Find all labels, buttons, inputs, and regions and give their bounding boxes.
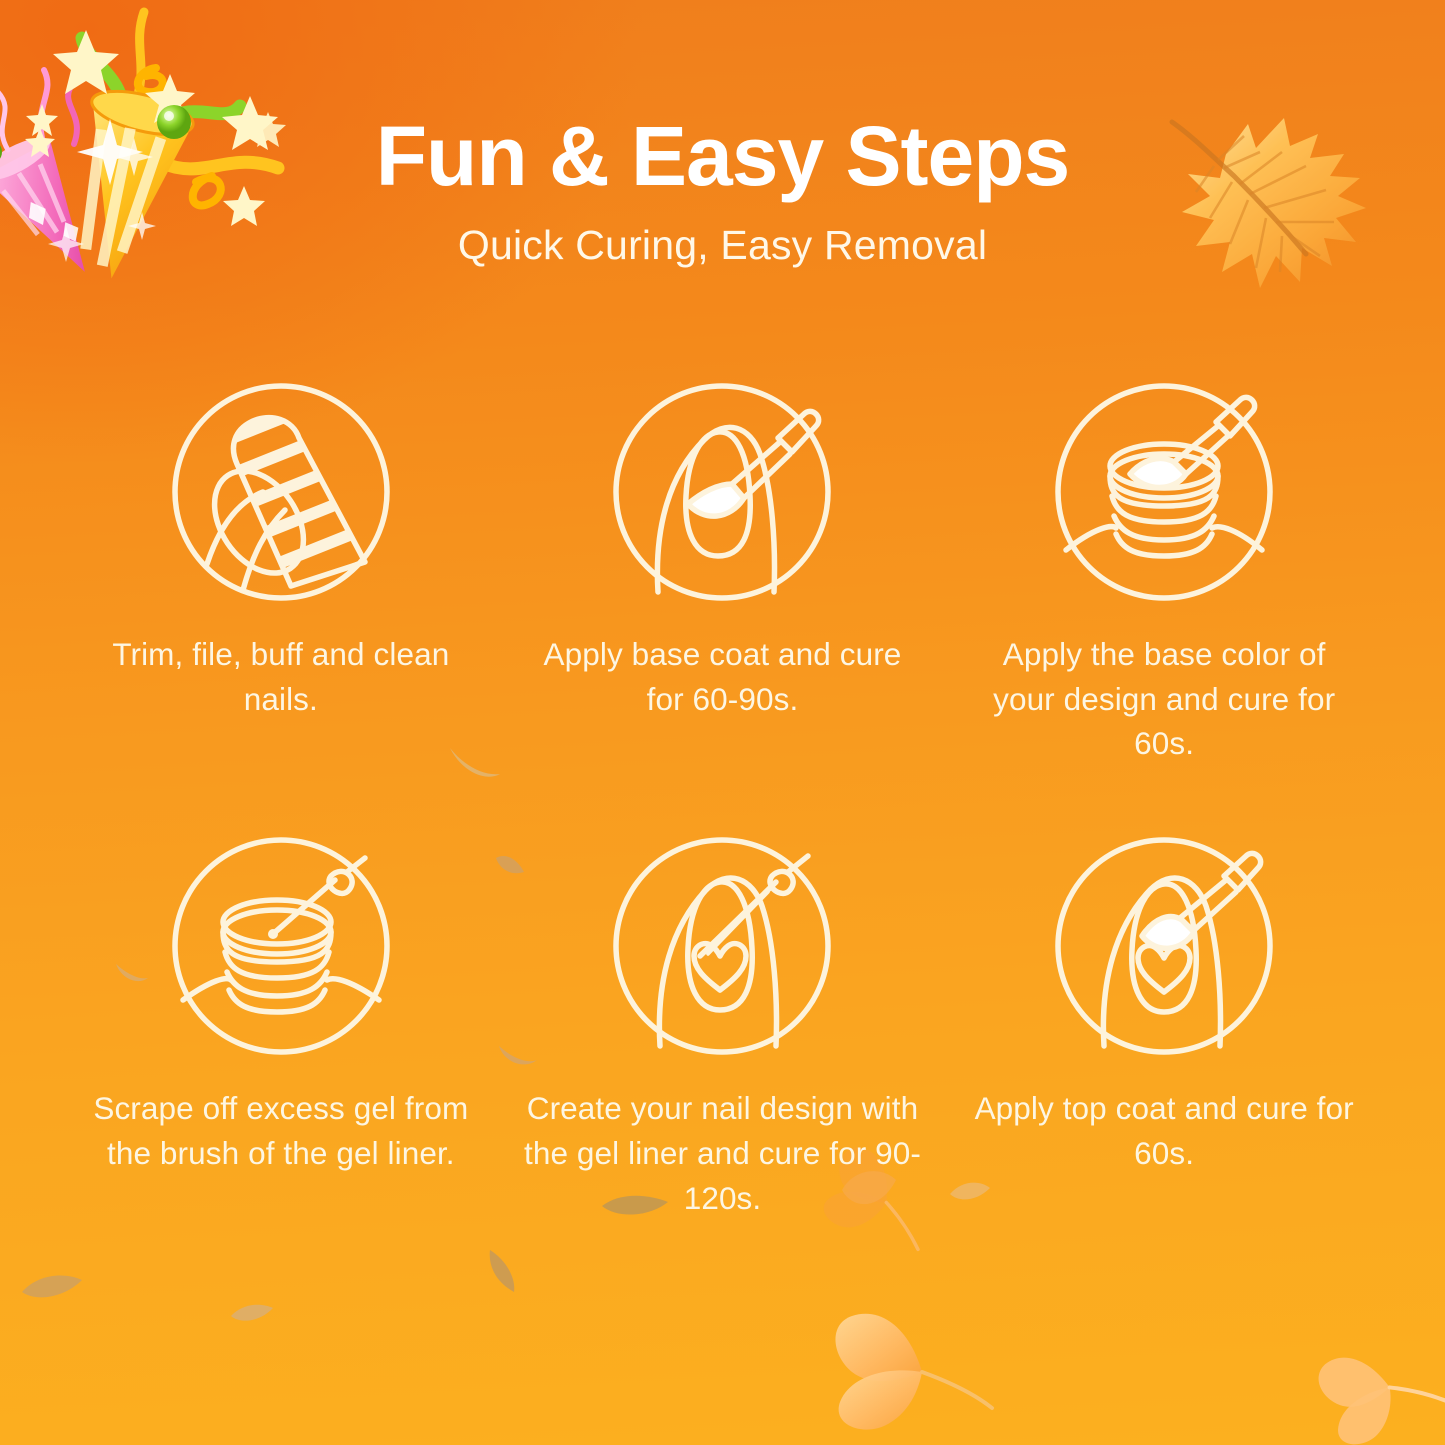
step-2: Apply base coat and cure for 60-90s.: [502, 378, 944, 766]
infographic-page: Fun & Easy Steps Quick Curing, Easy Remo…: [0, 0, 1445, 1445]
step-4: Scrape off excess gel from the brush of …: [60, 832, 502, 1220]
step-4-text: Scrape off excess gel from the brush of …: [76, 1086, 486, 1175]
nail-heart-liner-icon: [608, 832, 836, 1060]
steps-grid: Trim, file, buff and clean nails.: [60, 378, 1385, 1220]
gel-pot-liner-icon: [167, 832, 395, 1060]
confetti-flake: [230, 1300, 274, 1326]
step-3: Apply the base color of your design and …: [943, 378, 1385, 766]
step-1: Trim, file, buff and clean nails.: [60, 378, 502, 766]
step-5: Create your nail design with the gel lin…: [502, 832, 944, 1220]
ginkgo-leaf-icon: [826, 1296, 1016, 1445]
gel-pot-brush-icon: [1050, 378, 1278, 606]
base-coat-brush-icon: [608, 378, 836, 606]
step-3-text: Apply the base color of your design and …: [969, 632, 1359, 766]
step-1-text: Trim, file, buff and clean nails.: [86, 632, 476, 721]
step-2-text: Apply base coat and cure for 60-90s.: [527, 632, 917, 721]
step-6: Apply top coat and cure for 60s.: [943, 832, 1385, 1220]
confetti-flake: [20, 1268, 84, 1304]
top-coat-heart-icon: [1050, 832, 1278, 1060]
step-5-text: Create your nail design with the gel lin…: [517, 1086, 927, 1220]
page-title: Fun & Easy Steps: [0, 112, 1445, 200]
page-subtitle: Quick Curing, Easy Removal: [0, 222, 1445, 269]
header: Fun & Easy Steps Quick Curing, Easy Remo…: [0, 0, 1445, 269]
ginkgo-leaf-icon: [1303, 1311, 1445, 1445]
nail-file-icon: [167, 378, 395, 606]
confetti-flake: [484, 1248, 522, 1294]
step-6-text: Apply top coat and cure for 60s.: [959, 1086, 1369, 1175]
